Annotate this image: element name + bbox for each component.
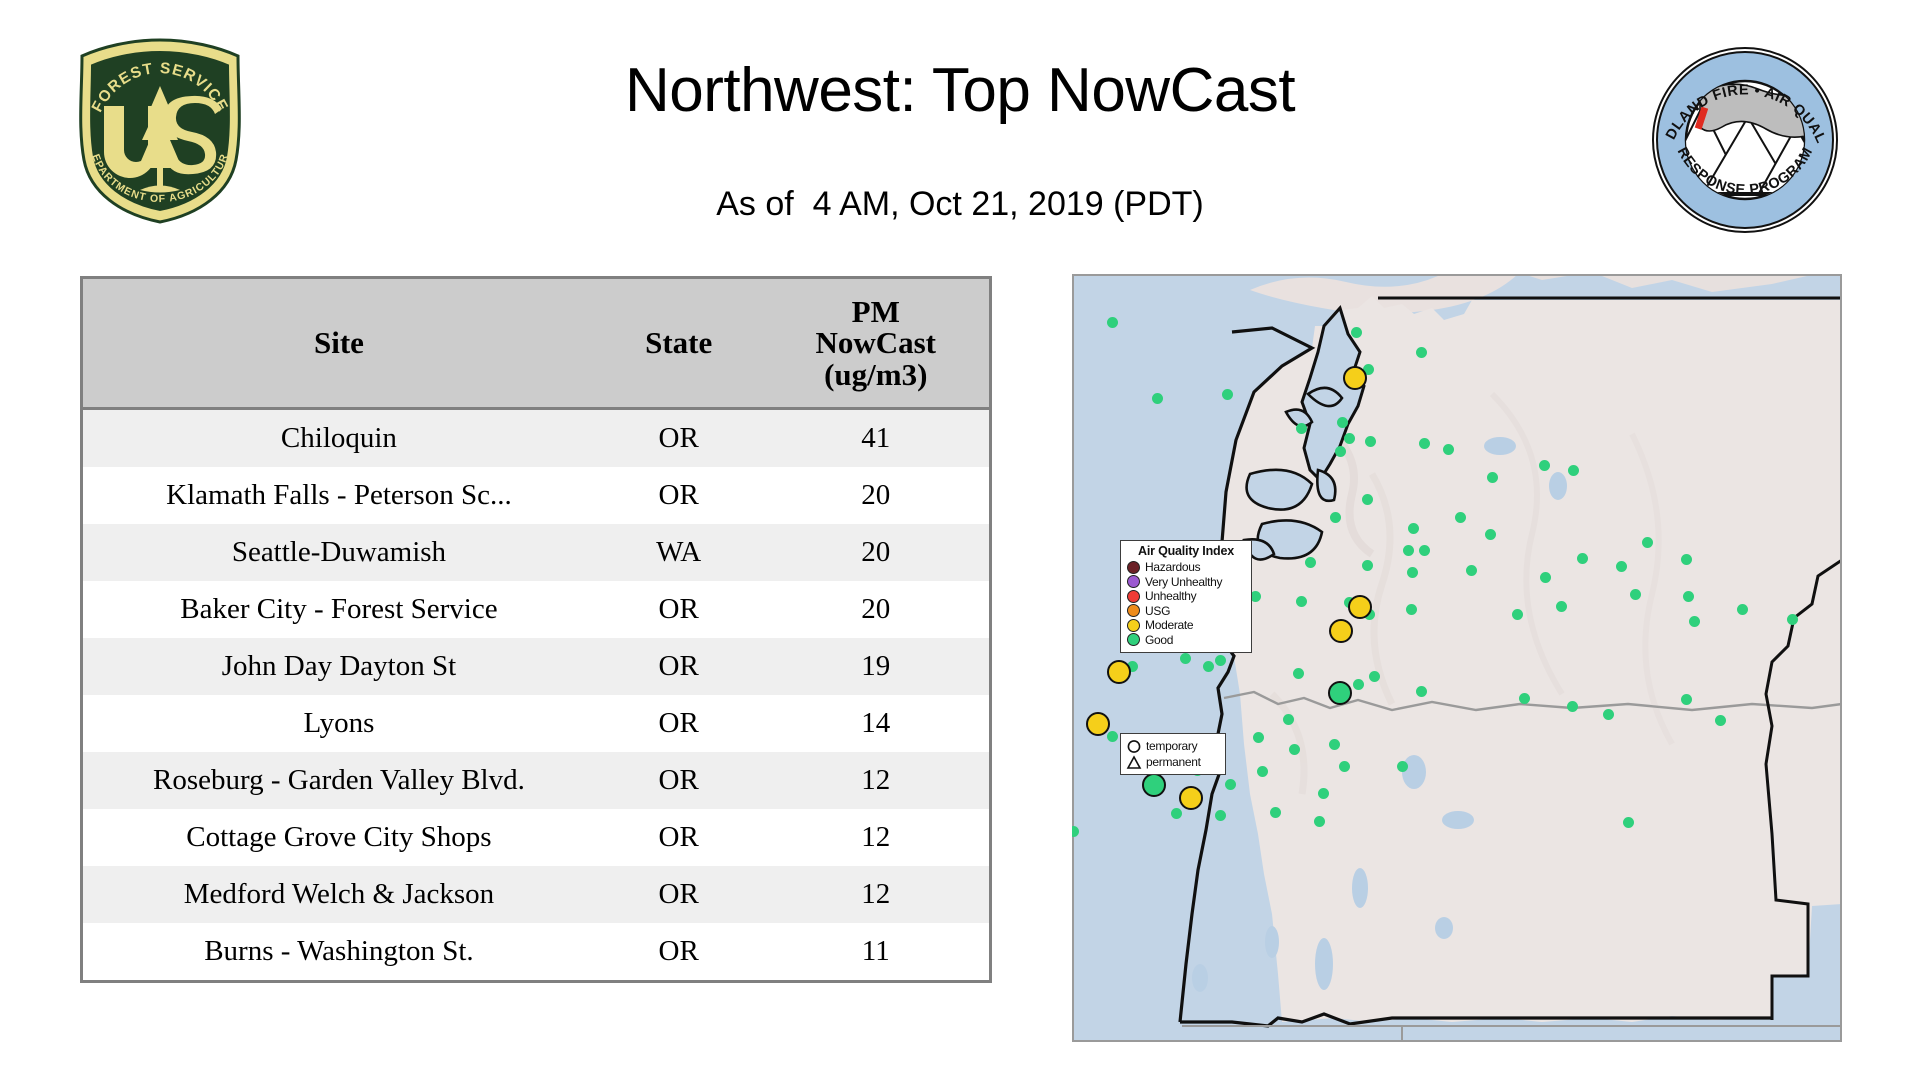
legend-temporary: temporary xyxy=(1126,738,1220,754)
map-site-marker-good[interactable] xyxy=(1630,589,1641,600)
air-quality-map[interactable]: Air Quality Index HazardousVery Unhealth… xyxy=(1072,274,1842,1042)
map-site-marker-good[interactable] xyxy=(1556,601,1567,612)
cell-site: Klamath Falls - Peterson Sc... xyxy=(83,467,595,524)
map-site-marker-good[interactable] xyxy=(1296,596,1307,607)
legend-permanent: permanent xyxy=(1126,754,1220,770)
aqi-swatch-icon xyxy=(1127,619,1140,632)
map-site-marker-good[interactable] xyxy=(1314,816,1325,827)
aqi-legend-label: Hazardous xyxy=(1145,560,1200,574)
map-site-marker-good[interactable] xyxy=(1365,436,1376,447)
map-site-marker-good[interactable] xyxy=(1419,438,1430,449)
cell-pm: 20 xyxy=(762,467,989,524)
aqi-legend-label: Unhealthy xyxy=(1145,589,1196,603)
column-header-state: State xyxy=(595,279,763,409)
cell-state: OR xyxy=(595,923,763,980)
map-site-marker-good[interactable] xyxy=(1171,808,1182,819)
map-site-marker-good[interactable] xyxy=(1337,417,1348,428)
cell-state: OR xyxy=(595,695,763,752)
nowcast-report-page: FOREST SERVICE DEPARTMENT OF AGRICULTURE… xyxy=(0,0,1920,1080)
map-site-marker-good[interactable] xyxy=(1339,761,1350,772)
map-site-marker-good[interactable] xyxy=(1397,761,1408,772)
triangle-icon xyxy=(1126,755,1143,770)
map-site-marker-good[interactable] xyxy=(1293,668,1304,679)
map-site-marker-good[interactable] xyxy=(1416,686,1427,697)
aqi-legend-label: Very Unhealthy xyxy=(1145,575,1222,589)
map-site-marker-good[interactable] xyxy=(1403,545,1414,556)
map-site-marker-good[interactable] xyxy=(1519,693,1530,704)
table-row[interactable]: Roseburg - Garden Valley Blvd.OR12 xyxy=(83,752,989,809)
map-site-marker-good[interactable] xyxy=(1353,679,1364,690)
cell-state: WA xyxy=(595,524,763,581)
map-site-marker-good[interactable] xyxy=(1344,433,1355,444)
map-site-marker-good[interactable] xyxy=(1215,810,1226,821)
map-site-marker-good[interactable] xyxy=(1296,423,1307,434)
pm-header-line-3: (ug/m3) xyxy=(766,359,985,391)
map-site-marker-good[interactable] xyxy=(1351,327,1362,338)
cell-pm: 11 xyxy=(762,923,989,980)
map-site-marker-good[interactable] xyxy=(1681,554,1692,565)
map-site-marker-good[interactable] xyxy=(1416,347,1427,358)
map-site-marker-good[interactable] xyxy=(1335,446,1346,457)
cell-site: Burns - Washington St. xyxy=(83,923,595,980)
map-site-marker-moderate[interactable] xyxy=(1107,660,1131,684)
pm-header-line-1: PM xyxy=(766,296,985,328)
map-site-marker-good[interactable] xyxy=(1455,512,1466,523)
map-site-marker-good[interactable] xyxy=(1329,739,1340,750)
map-site-marker-good[interactable] xyxy=(1567,701,1578,712)
map-site-marker-good[interactable] xyxy=(1180,653,1191,664)
map-site-marker-moderate[interactable] xyxy=(1179,786,1203,810)
map-site-marker-good[interactable] xyxy=(1466,565,1477,576)
map-site-marker-good[interactable] xyxy=(1222,389,1233,400)
table-row[interactable]: Medford Welch & JacksonOR12 xyxy=(83,866,989,923)
table-row[interactable]: ChiloquinOR41 xyxy=(83,409,989,468)
map-site-marker-good[interactable] xyxy=(1305,557,1316,568)
map-site-marker-good[interactable] xyxy=(1539,460,1550,471)
cell-site: John Day Dayton St xyxy=(83,638,595,695)
aqi-legend-item: Moderate xyxy=(1127,618,1245,633)
table-row[interactable]: Cottage Grove City ShopsOR12 xyxy=(83,809,989,866)
aqi-legend-label: Moderate xyxy=(1145,618,1193,632)
map-site-marker-good[interactable] xyxy=(1406,604,1417,615)
aqi-legend-title: Air Quality Index xyxy=(1127,544,1245,558)
map-site-marker-good[interactable] xyxy=(1408,523,1419,534)
column-header-pm-nowcast: PM NowCast (ug/m3) xyxy=(762,279,989,409)
map-site-marker-good-large[interactable] xyxy=(1328,681,1352,705)
map-site-marker-good[interactable] xyxy=(1289,744,1300,755)
cell-site: Medford Welch & Jackson xyxy=(83,866,595,923)
legend-permanent-label: permanent xyxy=(1146,755,1201,769)
table-header: Site State PM NowCast (ug/m3) xyxy=(83,279,989,409)
cell-site: Lyons xyxy=(83,695,595,752)
cell-state: OR xyxy=(595,581,763,638)
map-site-marker-good[interactable] xyxy=(1787,614,1798,625)
map-site-marker-good[interactable] xyxy=(1283,714,1294,725)
aqi-legend-label: Good xyxy=(1145,633,1173,647)
map-site-marker-moderate[interactable] xyxy=(1329,619,1353,643)
circle-icon xyxy=(1126,739,1143,754)
cell-state: OR xyxy=(595,866,763,923)
page-subtitle: As of 4 AM, Oct 21, 2019 (PDT) xyxy=(0,185,1920,224)
legend-temporary-label: temporary xyxy=(1146,739,1197,753)
map-site-marker-good[interactable] xyxy=(1616,561,1627,572)
cell-state: OR xyxy=(595,467,763,524)
map-site-marker-moderate[interactable] xyxy=(1086,712,1110,736)
map-site-marker-good[interactable] xyxy=(1443,444,1454,455)
map-site-marker-moderate[interactable] xyxy=(1348,595,1372,619)
column-header-site: Site xyxy=(83,279,595,409)
map-site-marker-good-large[interactable] xyxy=(1142,773,1166,797)
cell-site: Cottage Grove City Shops xyxy=(83,809,595,866)
cell-pm: 12 xyxy=(762,809,989,866)
map-site-marker-good[interactable] xyxy=(1107,731,1118,742)
aqi-swatch-icon xyxy=(1127,590,1140,603)
map-site-marker-good[interactable] xyxy=(1623,817,1634,828)
table-row[interactable]: John Day Dayton StOR19 xyxy=(83,638,989,695)
cell-site: Roseburg - Garden Valley Blvd. xyxy=(83,752,595,809)
aqi-legend-item: Good xyxy=(1127,633,1245,648)
map-site-marker-good[interactable] xyxy=(1603,709,1614,720)
cell-pm: 20 xyxy=(762,524,989,581)
table-row[interactable]: Burns - Washington St.OR11 xyxy=(83,923,989,980)
cell-state: OR xyxy=(595,752,763,809)
map-site-marker-good[interactable] xyxy=(1152,393,1163,404)
aqi-legend-item: Very Unhealthy xyxy=(1127,575,1245,590)
table-row[interactable]: Baker City - Forest ServiceOR20 xyxy=(83,581,989,638)
cell-site: Chiloquin xyxy=(83,409,595,468)
map-site-marker-good[interactable] xyxy=(1225,779,1236,790)
map-site-marker-good[interactable] xyxy=(1568,465,1579,476)
map-site-marker-good[interactable] xyxy=(1318,788,1329,799)
map-site-marker-good[interactable] xyxy=(1257,766,1268,777)
nowcast-table: Site State PM NowCast (ug/m3) ChiloquinO… xyxy=(83,279,989,980)
aqi-swatch-icon xyxy=(1127,575,1140,588)
map-site-marker-good[interactable] xyxy=(1485,529,1496,540)
map-site-marker-good[interactable] xyxy=(1642,537,1653,548)
map-site-marker-good[interactable] xyxy=(1362,560,1373,571)
cell-site: Seattle-Duwamish xyxy=(83,524,595,581)
map-site-marker-good[interactable] xyxy=(1253,732,1264,743)
map-site-marker-good[interactable] xyxy=(1215,655,1226,666)
table-body: ChiloquinOR41Klamath Falls - Peterson Sc… xyxy=(83,409,989,981)
map-site-marker-good[interactable] xyxy=(1512,609,1523,620)
cell-state: OR xyxy=(595,638,763,695)
map-site-marker-good[interactable] xyxy=(1540,572,1551,583)
map-site-marker-good[interactable] xyxy=(1407,567,1418,578)
wildland-fire-air-quality-response-program-logo: WILDLAND FIRE • AIR QUALITY RESPONSE PRO… xyxy=(1650,45,1840,235)
map-site-marker-good[interactable] xyxy=(1072,826,1079,837)
nowcast-table-container: Site State PM NowCast (ug/m3) ChiloquinO… xyxy=(80,276,992,983)
table-row[interactable]: LyonsOR14 xyxy=(83,695,989,752)
cell-pm: 20 xyxy=(762,581,989,638)
air-quality-index-legend: Air Quality Index HazardousVery Unhealth… xyxy=(1120,540,1252,653)
map-site-marker-good[interactable] xyxy=(1715,715,1726,726)
cell-state: OR xyxy=(595,809,763,866)
aqi-swatch-icon xyxy=(1127,604,1140,617)
pm-header-line-2: NowCast xyxy=(766,327,985,359)
cell-pm: 41 xyxy=(762,409,989,468)
map-site-marker-good[interactable] xyxy=(1577,553,1588,564)
map-site-marker-good[interactable] xyxy=(1107,317,1118,328)
cell-site: Baker City - Forest Service xyxy=(83,581,595,638)
monitor-type-legend: temporary permanent xyxy=(1120,733,1226,775)
table-row[interactable]: Seattle-DuwamishWA20 xyxy=(83,524,989,581)
cell-pm: 19 xyxy=(762,638,989,695)
aqi-legend-label: USG xyxy=(1145,604,1170,618)
aqi-swatch-icon xyxy=(1127,561,1140,574)
map-site-marker-good[interactable] xyxy=(1270,807,1281,818)
aqi-swatch-icon xyxy=(1127,633,1140,646)
aqi-legend-item: Hazardous xyxy=(1127,560,1245,575)
aqi-legend-item: Unhealthy xyxy=(1127,589,1245,604)
table-row[interactable]: Klamath Falls - Peterson Sc...OR20 xyxy=(83,467,989,524)
cell-pm: 12 xyxy=(762,866,989,923)
map-site-marker-good[interactable] xyxy=(1203,661,1214,672)
cell-pm: 14 xyxy=(762,695,989,752)
map-site-marker-moderate[interactable] xyxy=(1343,366,1367,390)
cell-pm: 12 xyxy=(762,752,989,809)
page-title: Northwest: Top NowCast xyxy=(0,55,1920,126)
map-site-marker-good[interactable] xyxy=(1681,694,1692,705)
map-site-marker-good[interactable] xyxy=(1737,604,1748,615)
aqi-legend-item: USG xyxy=(1127,604,1245,619)
map-site-marker-good[interactable] xyxy=(1419,545,1430,556)
map-site-marker-good[interactable] xyxy=(1362,494,1373,505)
map-site-marker-good[interactable] xyxy=(1369,671,1380,682)
map-site-marker-good[interactable] xyxy=(1487,472,1498,483)
map-site-marker-good[interactable] xyxy=(1330,512,1341,523)
cell-state: OR xyxy=(595,409,763,468)
map-site-marker-good[interactable] xyxy=(1689,616,1700,627)
map-site-marker-good[interactable] xyxy=(1683,591,1694,602)
